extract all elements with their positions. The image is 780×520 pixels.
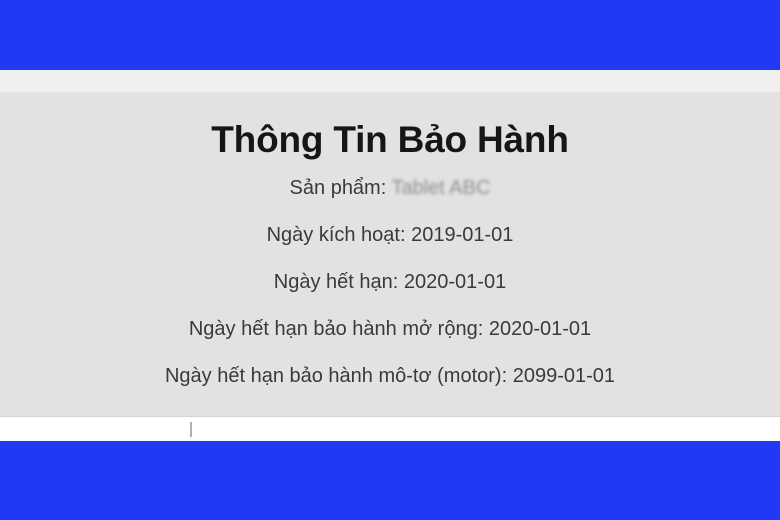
info-label-expiry-date: Ngày hết hạn: [274, 271, 399, 293]
white-strip [0, 417, 780, 441]
text-cursor-caret[interactable] [190, 422, 192, 437]
top-brand-band [0, 0, 780, 70]
info-label-motor-warranty-expiry: Ngày hết hạn bảo hành mô-tơ (motor): [165, 365, 507, 387]
info-value-motor-warranty-expiry: 2099-01-01 [513, 365, 615, 387]
info-row-motor-warranty-expiry: Ngày hết hạn bảo hành mô-tơ (motor): 209… [165, 363, 615, 390]
info-value-expiry-date: 2020-01-01 [404, 271, 506, 293]
info-row-extended-warranty-expiry: Ngày hết hạn bảo hành mở rộng: 2020-01-0… [189, 316, 591, 343]
info-value-activation-date: 2019-01-01 [411, 224, 513, 246]
info-label-activation-date: Ngày kích hoạt: [267, 224, 406, 246]
info-value-product: Tablet ABC [391, 177, 490, 199]
bottom-brand-band [0, 441, 780, 520]
info-row-activation-date: Ngày kích hoạt: 2019-01-01 [267, 222, 514, 249]
info-row-product: Sản phẩm: Tablet ABC [290, 175, 491, 202]
info-row-expiry-date: Ngày hết hạn: 2020-01-01 [274, 269, 506, 296]
warranty-info-panel: Thông Tin Bảo Hành Sản phẩm: Tablet ABC … [0, 92, 780, 417]
page-title: Thông Tin Bảo Hành [211, 120, 568, 161]
info-label-product: Sản phẩm: [290, 177, 387, 199]
info-label-extended-warranty-expiry: Ngày hết hạn bảo hành mở rộng: [189, 318, 483, 340]
info-value-extended-warranty-expiry: 2020-01-01 [489, 318, 591, 340]
page-root: Thông Tin Bảo Hành Sản phẩm: Tablet ABC … [0, 0, 780, 520]
gap-band [0, 70, 780, 92]
